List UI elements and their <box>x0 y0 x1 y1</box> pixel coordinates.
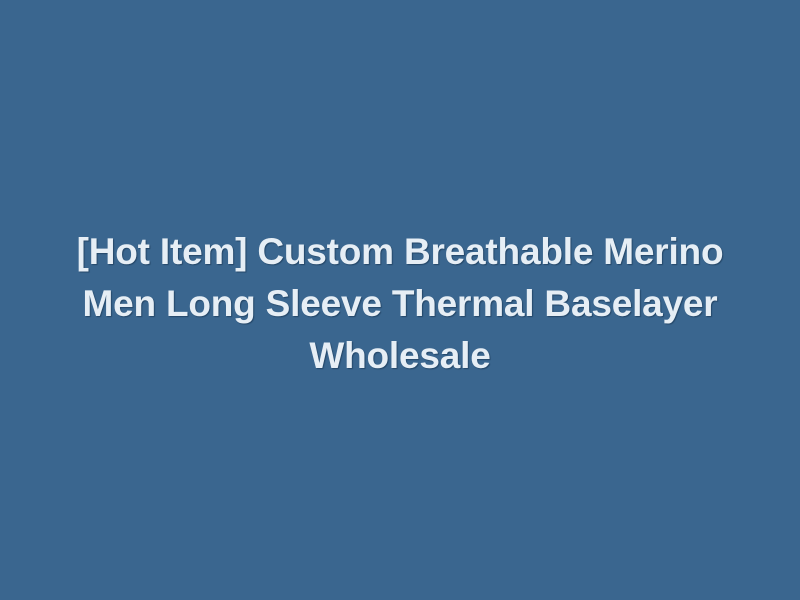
product-title-line-1: [Hot Item] Custom Breathable Merino <box>50 226 750 278</box>
product-image-placeholder: [Hot Item] Custom Breathable Merino Men … <box>0 0 800 600</box>
product-title-line-2: Men Long Sleeve Thermal Baselayer <box>50 278 750 330</box>
product-title: [Hot Item] Custom Breathable Merino Men … <box>40 226 760 382</box>
product-title-line-3: Wholesale <box>50 330 750 382</box>
